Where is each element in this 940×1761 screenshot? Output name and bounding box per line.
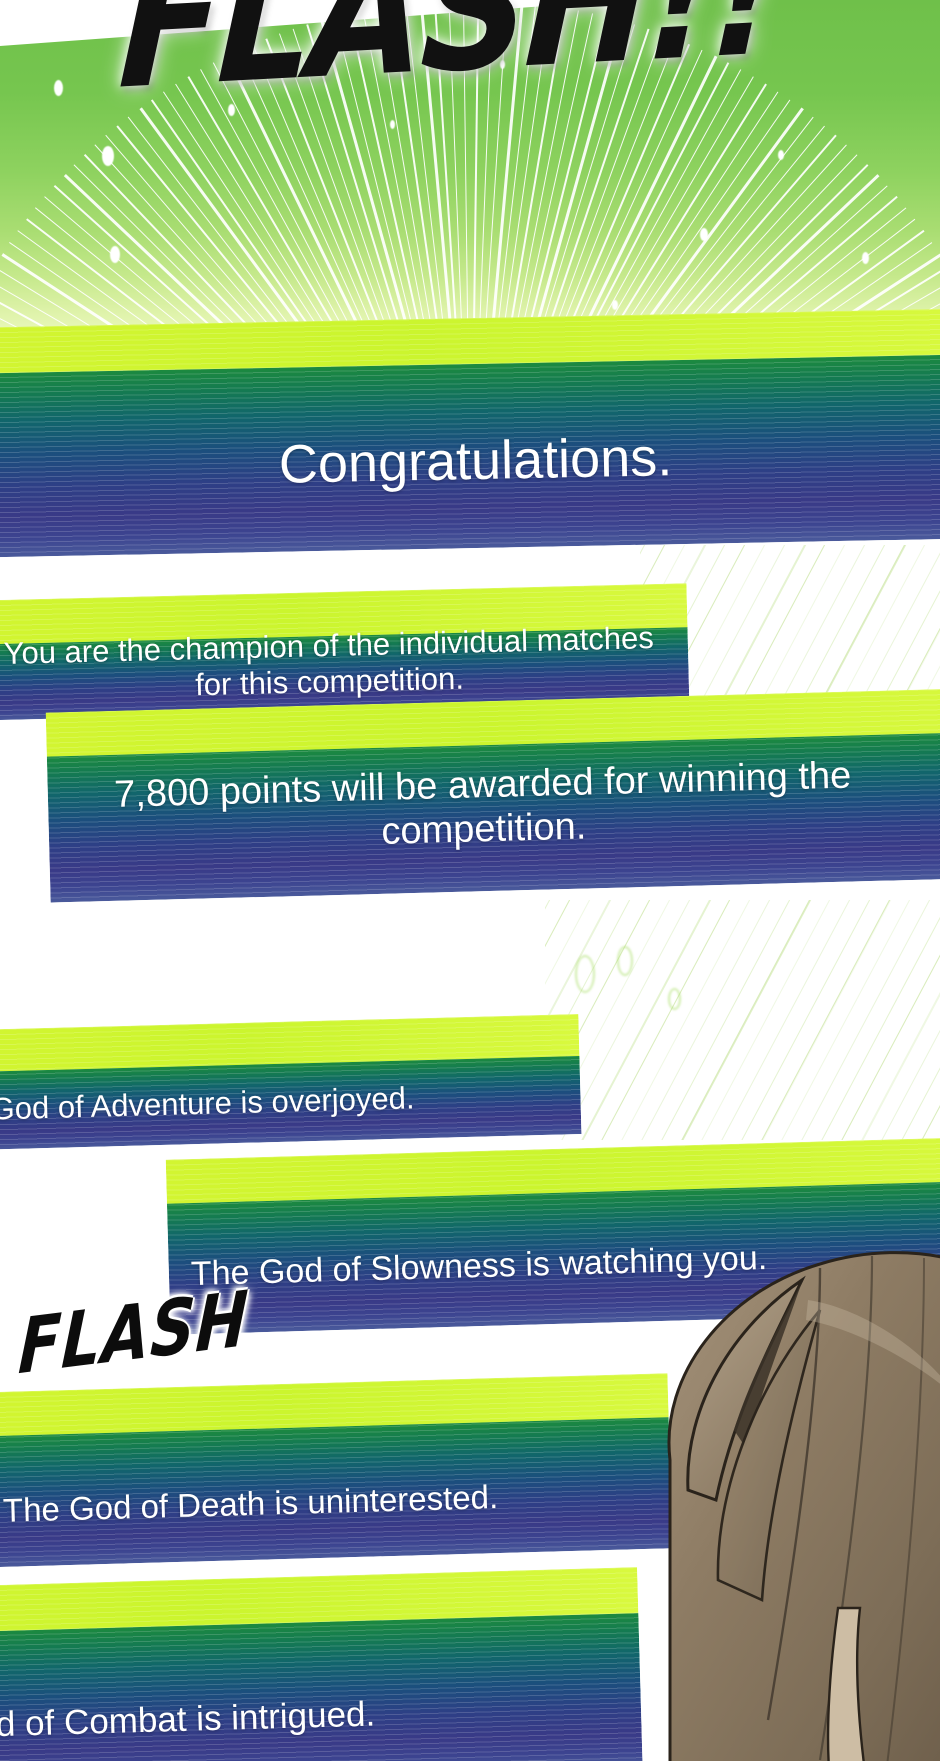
hair-line-1 <box>768 1268 820 1720</box>
glow-ring-b <box>617 946 633 976</box>
hair-line-2 <box>820 1256 872 1760</box>
banner-scanlines <box>166 1136 940 1334</box>
webtoon-panel: FLASH!! Congratulations. You are the cha… <box>0 0 940 1761</box>
hair-line-3 <box>886 1258 924 1761</box>
glow-ring-c <box>668 988 681 1010</box>
system-banner-god-of-slowness: The God of Slowness is watching you. <box>166 1136 940 1334</box>
glow-ring-a <box>575 955 595 993</box>
speed-ray-lines <box>0 0 940 330</box>
system-banner-god-of-adventure: The God of Adventure is overjoyed. <box>0 1014 581 1150</box>
hair-sidelock <box>828 1608 866 1761</box>
system-banner-god-of-combat: The God of Combat is intrigued. <box>0 1567 643 1761</box>
system-message-text: You are the champion of the individual m… <box>0 620 671 709</box>
system-banner-god-of-death: The God of Death is uninterested. <box>0 1373 672 1567</box>
system-banner-congratulations: Congratulations. <box>0 308 940 557</box>
hair-strand-2 <box>718 1310 820 1600</box>
system-banner-points: 7,800 points will be awarded for winning… <box>46 687 940 902</box>
hair-main-mass <box>669 1253 940 1761</box>
speedline-paper-right-mid <box>545 900 940 1140</box>
burst-background <box>0 0 940 330</box>
banner-scanlines <box>0 1373 672 1567</box>
